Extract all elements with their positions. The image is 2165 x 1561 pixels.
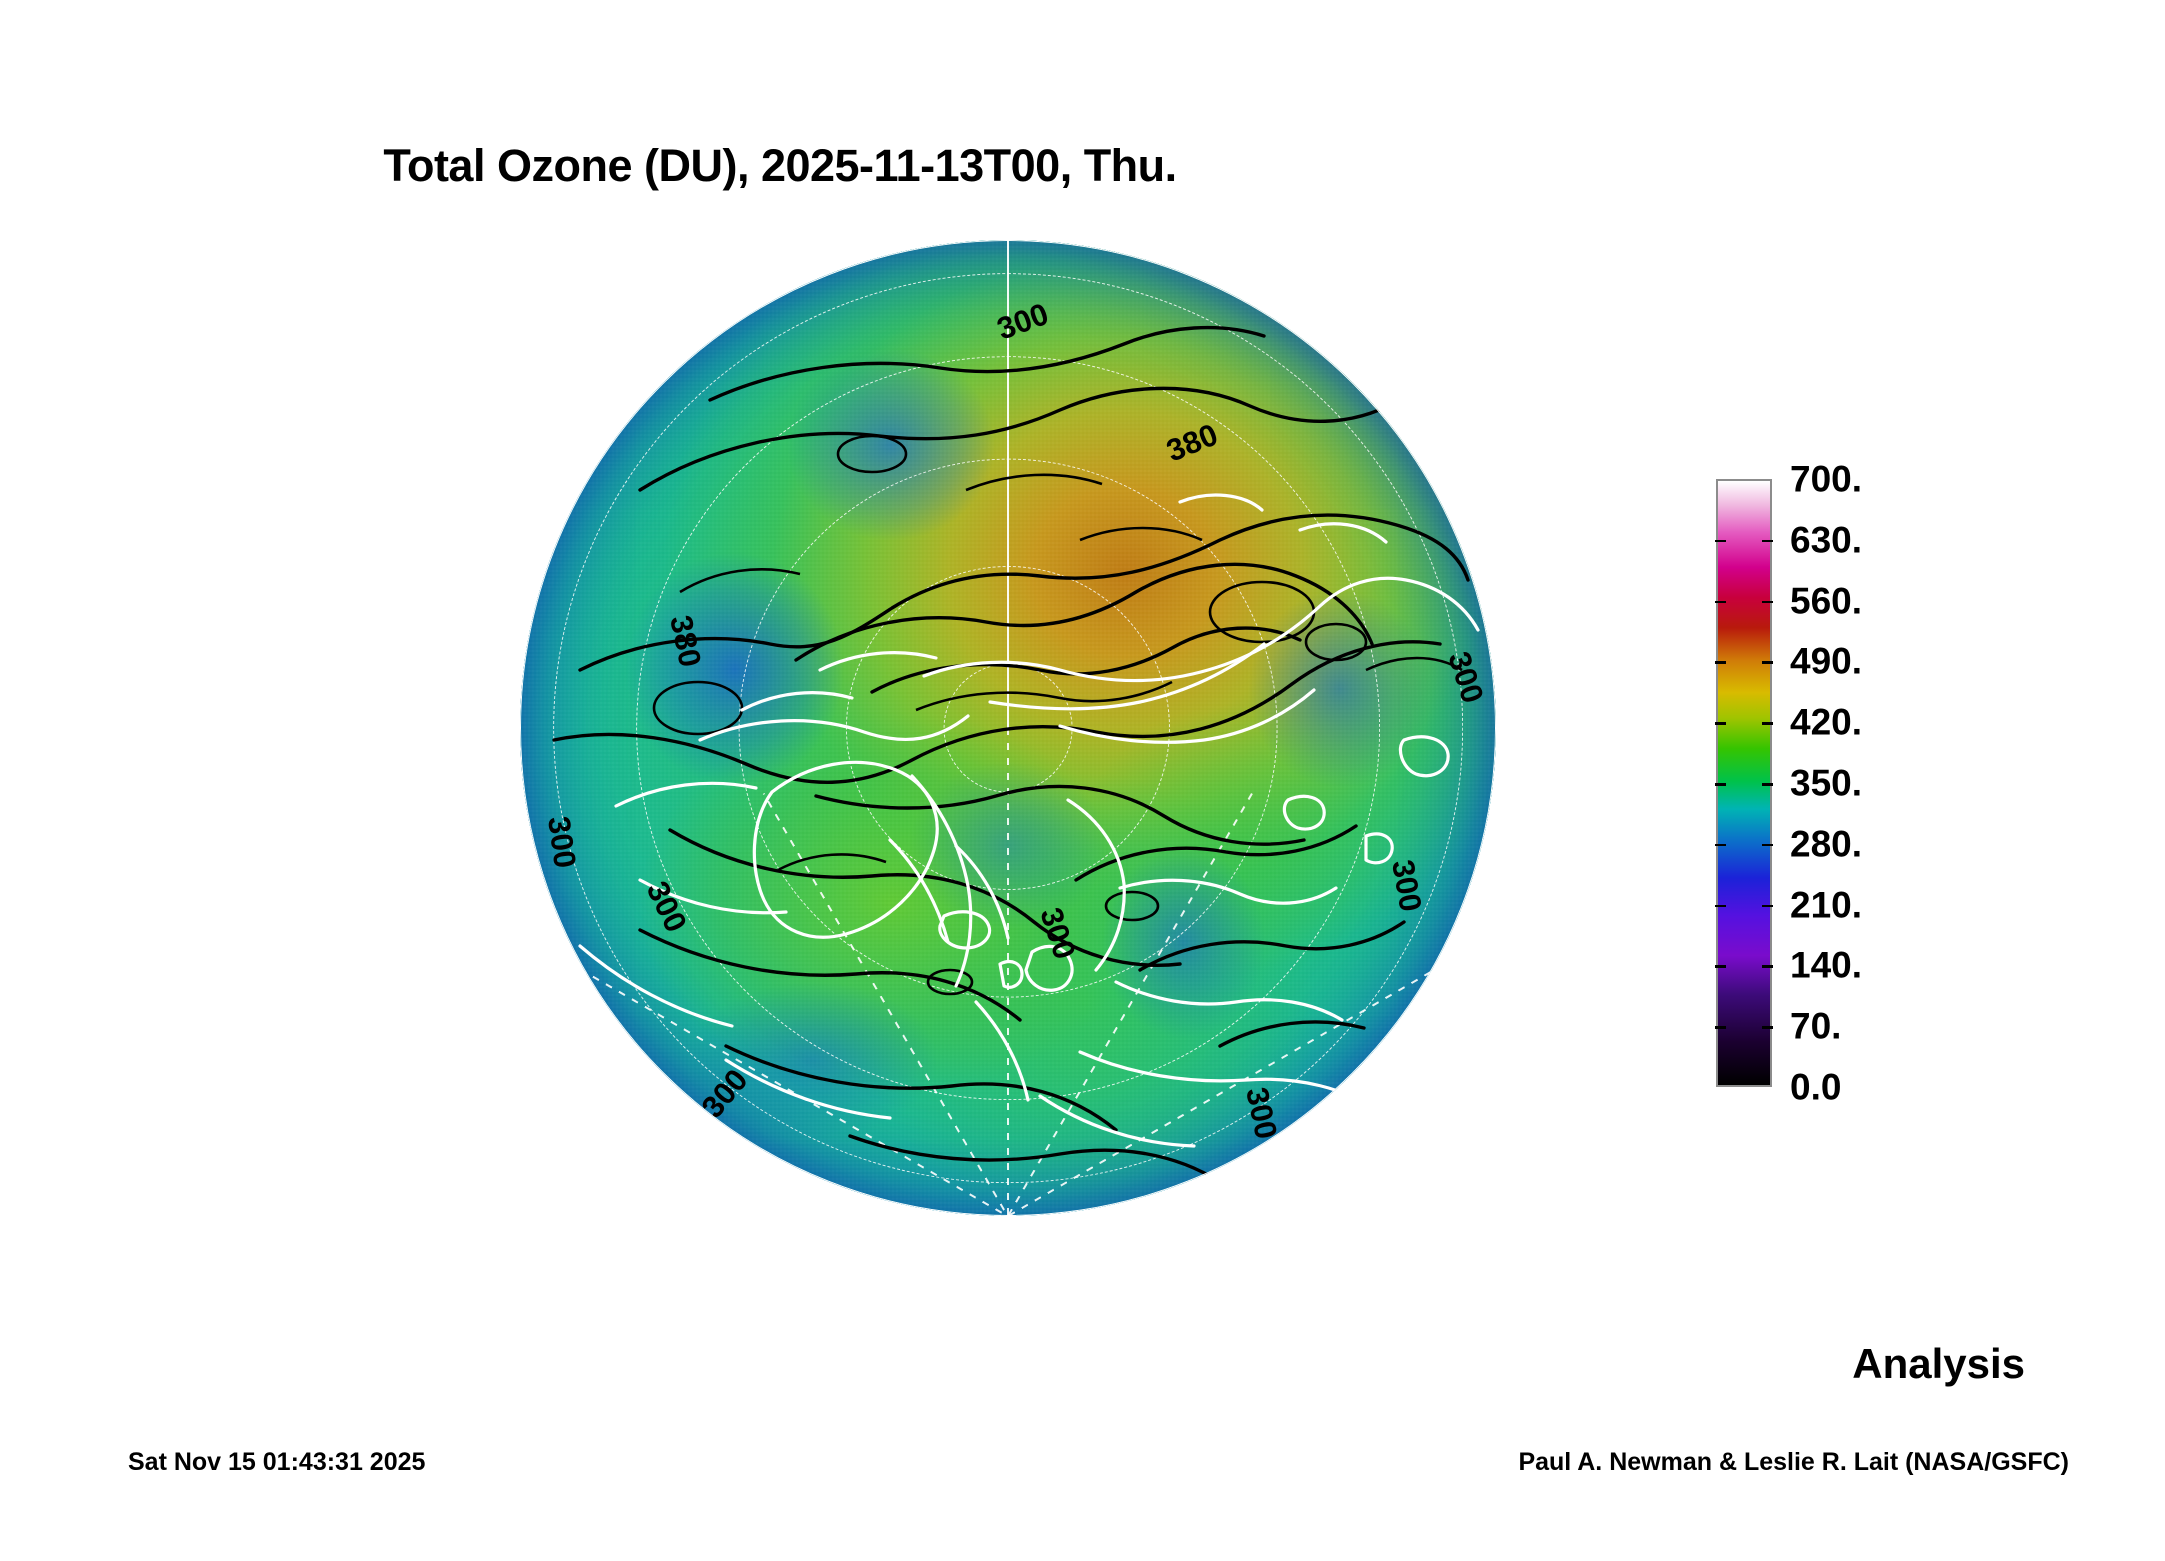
- colorbar-label-0: 0.0: [1790, 1069, 1841, 1106]
- colorbar-tick-280: [1762, 844, 1773, 847]
- colorbar-tick-140: [1762, 965, 1773, 968]
- colorbar-label-630: 630.: [1790, 521, 1862, 558]
- colorbar-tick-70: [1762, 1026, 1773, 1029]
- colorbar-tick-140: [1715, 965, 1726, 968]
- contour-label-300-a: 300: [992, 296, 1053, 347]
- colorbar-tick-630: [1715, 540, 1726, 543]
- render-timestamp: Sat Nov 15 01:43:31 2025: [128, 1448, 425, 1477]
- colorbar-label-280: 280.: [1790, 825, 1862, 862]
- contour-label-300-f: 300: [1441, 647, 1490, 707]
- contour-label-300-e: 300: [1385, 857, 1428, 914]
- contour-label-300-b: 300: [541, 814, 583, 870]
- colorbar-label-420: 420.: [1790, 704, 1862, 741]
- colorbar-tick-560: [1762, 601, 1773, 604]
- colorbar-tick-210: [1762, 905, 1773, 908]
- colorbar-label-700: 700.: [1790, 461, 1862, 498]
- coastline-and-contour-overlay: 300 380 380 300 300 300 300 300 300 300: [520, 240, 1496, 1216]
- colorbar-tick-630: [1762, 540, 1773, 543]
- analysis-label: Analysis: [1852, 1340, 2025, 1388]
- contour-label-300-d: 300: [1033, 903, 1082, 963]
- colorbar-tick-70: [1715, 1026, 1726, 1029]
- colorbar-label-70: 70.: [1790, 1008, 1841, 1045]
- colorbar-tick-420: [1762, 722, 1773, 725]
- page-title: Total Ozone (DU), 2025-11-13T00, Thu.: [0, 140, 1560, 192]
- colorbar-label-210: 210.: [1790, 886, 1862, 923]
- contour-label-380-b: 380: [663, 612, 708, 670]
- colorbar-tick-210: [1715, 905, 1726, 908]
- colorbar-tick-420: [1715, 722, 1726, 725]
- colorbar-label-350: 350.: [1790, 765, 1862, 802]
- author-credit: Paul A. Newman & Leslie R. Lait (NASA/GS…: [1518, 1448, 2069, 1477]
- colorbar-tick-350: [1762, 783, 1773, 786]
- colorbar-tick-490: [1715, 661, 1726, 664]
- colorbar-tick-labels: 700.630.560.490.420.350.280.210.140.70.0…: [1790, 479, 2010, 1087]
- ozone-map-panel[interactable]: 300 380 380 300 300 300 300 300 300 300: [520, 240, 1496, 1216]
- colorbar-tick-490: [1762, 661, 1773, 664]
- coastlines: [580, 495, 1478, 1146]
- colorbar-label-140: 140.: [1790, 947, 1862, 984]
- colorbar-tick-350: [1715, 783, 1726, 786]
- polar-projection-disc[interactable]: 300 380 380 300 300 300 300 300 300 300: [520, 240, 1496, 1216]
- contour-label-380-a: 380: [1162, 417, 1223, 469]
- contour-label-300-g: 300: [1239, 1084, 1284, 1142]
- colorbar-tick-280: [1715, 844, 1726, 847]
- colorbar-tick-560: [1715, 601, 1726, 604]
- colorbar-label-560: 560.: [1790, 582, 1862, 619]
- colorbar-label-490: 490.: [1790, 643, 1862, 680]
- colorbar[interactable]: [1716, 479, 1772, 1087]
